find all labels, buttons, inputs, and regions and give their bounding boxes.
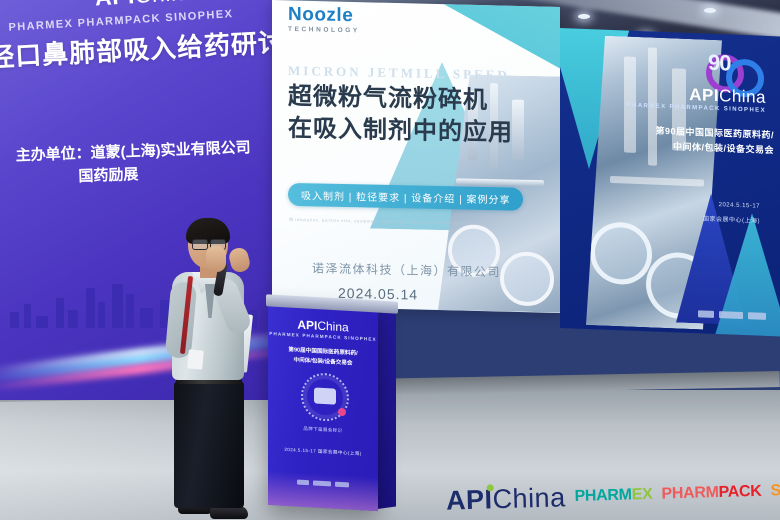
noozle-logo-text: Noozle	[288, 5, 416, 27]
badge-card	[187, 349, 204, 369]
slide-english-overline: MICRON JETMILL SPEED	[288, 63, 510, 84]
podium-glow	[268, 471, 378, 511]
slide-title: 超微粉气流粉碎机 在吸入制剂中的应用	[288, 81, 534, 149]
right-banner-date: 2024.5.15-17	[719, 202, 760, 210]
china-logo-text: China	[492, 482, 566, 514]
speaker-person	[148, 222, 266, 520]
ceiling-lamp-icon	[578, 14, 590, 19]
slide-company-name: 诺泽流体科技（上海）有限公司	[312, 259, 501, 280]
host-label: 主办单位：	[15, 145, 91, 165]
podium-emblem-note: 品牌下届展会标识	[268, 424, 378, 436]
sinophex-part-1: SIN	[770, 482, 780, 500]
pharmpack-part-2: PACK	[718, 483, 761, 501]
slide-topic-pill: 吸入制剂 | 粒径要求 | 设备介绍 | 案例分享	[288, 183, 523, 211]
china-logo-text: China	[317, 319, 348, 335]
hand-left	[206, 246, 226, 272]
logo-dot-icon	[487, 484, 494, 491]
host-line-2: 国药励展	[78, 159, 267, 189]
right-expo-banner: 90 APIChina PHARMEX PHARMPACK SINOPHEX 第…	[560, 28, 780, 336]
ceiling-lamp-icon	[704, 8, 716, 13]
pharmpack-logo: PHARMPACK	[661, 483, 762, 504]
china-logo-text: China	[719, 86, 766, 107]
left-banner-host-block: 主办单位：道蒙(上海)实业有限公司 国药励展	[15, 136, 266, 191]
pharmex-logo: PHARMEX	[574, 486, 652, 506]
pharmpack-part-1: PHARM	[661, 484, 719, 503]
wreath-emblem-icon	[301, 372, 349, 423]
podium-title: 第90届中国国际医药原料药/ 中间体/包装/设备交易会	[272, 344, 374, 370]
api-china-logo-bottom: APIChina	[446, 484, 566, 514]
noozle-logo-subtitle: TECHNOLOGY	[288, 26, 416, 36]
right-banner-title: 第90届中国国际医药原料药/ 中间体/包装/设备交易会	[624, 122, 774, 158]
podium-date-venue: 2024.5.15-17 国家会展中心(上海)	[268, 446, 378, 458]
noozle-logo: Noozle TECHNOLOGY	[288, 5, 416, 38]
pharmex-part-2: EX	[631, 486, 652, 504]
slide-title-line-2: 在吸入制剂中的应用	[288, 113, 534, 150]
conference-photo-scene: APIChina PHARMEX PHARMPACK SINOPHEX 经口鼻肺…	[0, 0, 780, 520]
api-china-logo: APIChina	[94, 0, 198, 11]
api-logo-text: API	[94, 0, 135, 10]
api-logo-text: API	[689, 85, 719, 105]
pharmex-part-1: PHARM	[574, 486, 632, 505]
china-logo-text: China	[134, 0, 198, 8]
edition-90-badge: 90	[706, 48, 762, 90]
podium: APIChina PHARMEX PHARMPACK SINOPHEX 第90届…	[268, 300, 378, 511]
presentation-slide: Noozle TECHNOLOGY MICRON JETMILL SPEED 超…	[272, 0, 560, 313]
hand-right	[227, 246, 251, 274]
emblem-accent-dot	[338, 408, 346, 416]
api-logo-text: API	[297, 318, 317, 333]
edition-number: 90	[708, 50, 730, 77]
sinophex-logo: SINOPHEX	[770, 480, 780, 500]
host-line-1: 道蒙(上海)实业有限公司	[90, 139, 250, 162]
trousers	[174, 380, 244, 508]
slide-title-line-1: 超微粉气流粉碎机	[288, 81, 534, 118]
